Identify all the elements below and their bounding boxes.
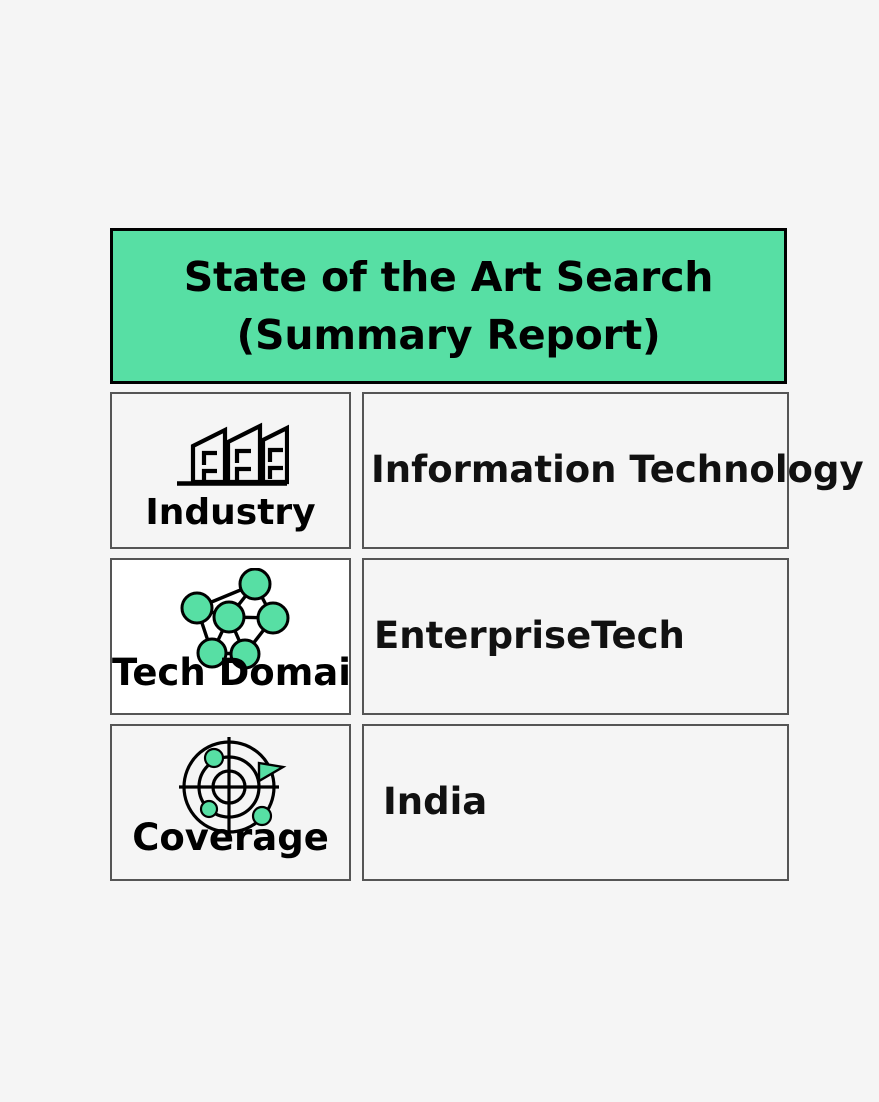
value-card-tech-domain: EnterpriseTech [362, 558, 789, 715]
field-row-coverage: Coverage India [110, 724, 789, 881]
value-card-coverage: India [362, 724, 789, 881]
label-text-coverage: Coverage [112, 819, 349, 856]
label-card-tech-domain: Tech Domain [110, 558, 351, 715]
value-text-coverage: India [364, 782, 487, 823]
label-text-industry: Industry [112, 495, 349, 531]
value-text-industry: Information Technology [364, 450, 864, 491]
report-field-rows: Industry Information Technology [110, 392, 789, 881]
page-title-line-1: State of the Art Search [184, 248, 714, 306]
factory-buildings-icon [112, 420, 349, 492]
value-text-tech-domain: EnterpriseTech [364, 616, 685, 657]
page-title-line-2: (Summary Report) [184, 306, 714, 364]
summary-report: State of the Art Search (Summary Report) [110, 228, 789, 881]
label-text-tech-domain: Tech Domain [112, 654, 349, 691]
label-card-coverage: Coverage [110, 724, 351, 881]
value-card-industry: Information Technology [362, 392, 789, 549]
report-header-banner: State of the Art Search (Summary Report) [110, 228, 787, 384]
label-card-industry: Industry [110, 392, 351, 549]
field-row-industry: Industry Information Technology [110, 392, 789, 549]
field-row-tech-domain: Tech Domain EnterpriseTech [110, 558, 789, 715]
page-title: State of the Art Search (Summary Report) [184, 248, 714, 364]
